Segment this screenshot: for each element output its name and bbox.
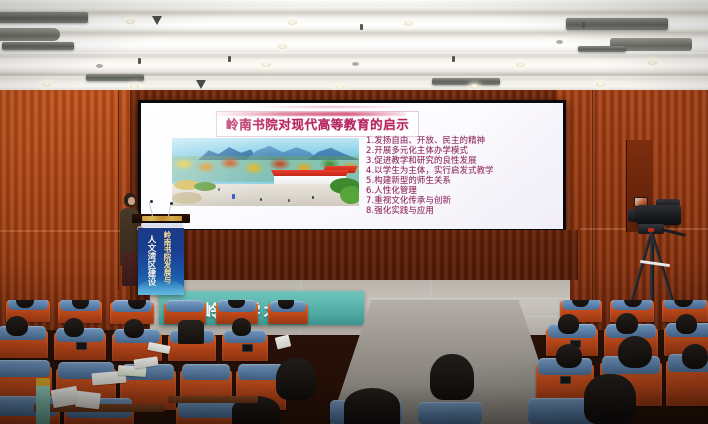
slide-bullet-list: 1.发扬自由、开放、民主的精神 2.开展多元化主体办学模式 3.促进教学和研究的… (366, 136, 556, 216)
stage-back-wall (130, 230, 578, 280)
list-item: 4.以学生为主体，实行启发式教学 (366, 166, 556, 175)
podium-emblem (142, 216, 182, 221)
microphone-head (150, 200, 153, 203)
ceiling-duct (2, 42, 74, 50)
slide-decoration (258, 106, 408, 108)
video-camera (637, 205, 681, 225)
list-item: 8.强化实践与应用 (366, 206, 556, 215)
list-item: 5.构建新型的师生关系 (366, 176, 556, 185)
list-item: 1.发扬自由、开放、民主的精神 (366, 136, 556, 145)
ceiling-speaker-cone (152, 16, 162, 25)
ceiling-duct (0, 28, 60, 41)
ceiling-duct (86, 74, 144, 81)
slide-photo (172, 138, 359, 206)
lecture-hall-photo: 岭南书院对现代高等教育的启示 1.发扬自由、开放、民主的精神 2. (0, 0, 708, 424)
slide-decoration (210, 112, 406, 116)
ceiling (0, 0, 708, 96)
speaker-lower-body (122, 252, 137, 286)
list-item: 7.重视文化传承与创新 (366, 196, 556, 205)
podium-subtitle-strip (141, 223, 183, 227)
ceiling-duct (578, 46, 626, 52)
list-item: 3.促进教学和研究的良性发展 (366, 156, 556, 165)
list-item: 6.人性化管理 (366, 186, 556, 195)
ceiling-speaker-cone (196, 80, 206, 89)
microphone-head (170, 202, 173, 205)
list-item: 2.开展多元化主体办学模式 (366, 146, 556, 155)
speaker-face (128, 197, 135, 205)
projected-slide: 岭南书院对现代高等教育的启示 1.发扬自由、开放、民主的精神 2. (141, 103, 563, 229)
ceiling-duct (0, 12, 88, 23)
ceiling-duct (432, 78, 500, 85)
audience-seating (0, 300, 708, 424)
slide-title: 岭南书院对现代高等教育的启示 (226, 114, 409, 133)
podium-banner: 岭南书院发展与 人文湾区建设 (138, 228, 184, 295)
